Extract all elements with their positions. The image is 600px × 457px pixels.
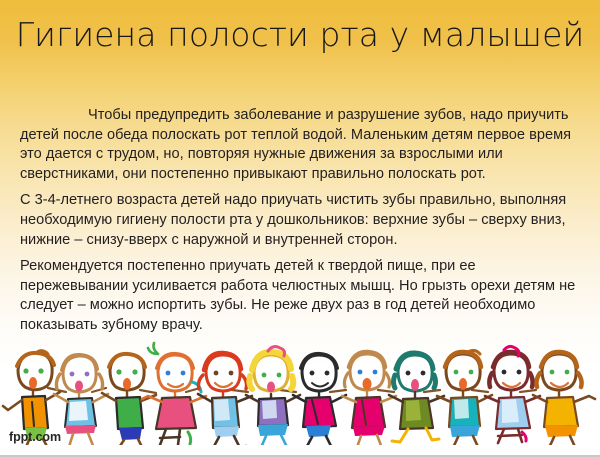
page-title: Гигиена полости рта у малышей [0,14,600,55]
children-illustration: .ln{fill:none;stroke-linecap:round;strok… [0,340,600,445]
child-figure-6 [246,347,300,445]
body-text-block: Чтобы предупредить заболевание и разруше… [20,106,580,336]
body-paragraph-1: Чтобы предупредить заболевание и разруше… [20,106,580,184]
child-figure-8 [342,352,396,445]
body-paragraph-2: С 3-4-летнего возраста детей надо приуча… [20,191,580,250]
child-figure-4 [142,343,206,445]
child-figure-7 [293,354,346,445]
child-figure-9 [389,353,444,442]
doodle-children-svg: .ln{fill:none;stroke-linecap:round;strok… [0,340,600,445]
slide-canvas: Гигиена полости рта у малышей Чтобы пред… [0,0,600,457]
child-figure-2 [54,355,108,445]
child-figure-5 [198,353,252,445]
child-figure-12 [533,352,595,445]
child-figure-3 [102,354,156,445]
body-paragraph-3: Рекомендуется постепенно приучать детей … [20,257,580,335]
child-figure-10 [437,350,492,445]
watermark-fppt: fppt.com [9,430,61,444]
